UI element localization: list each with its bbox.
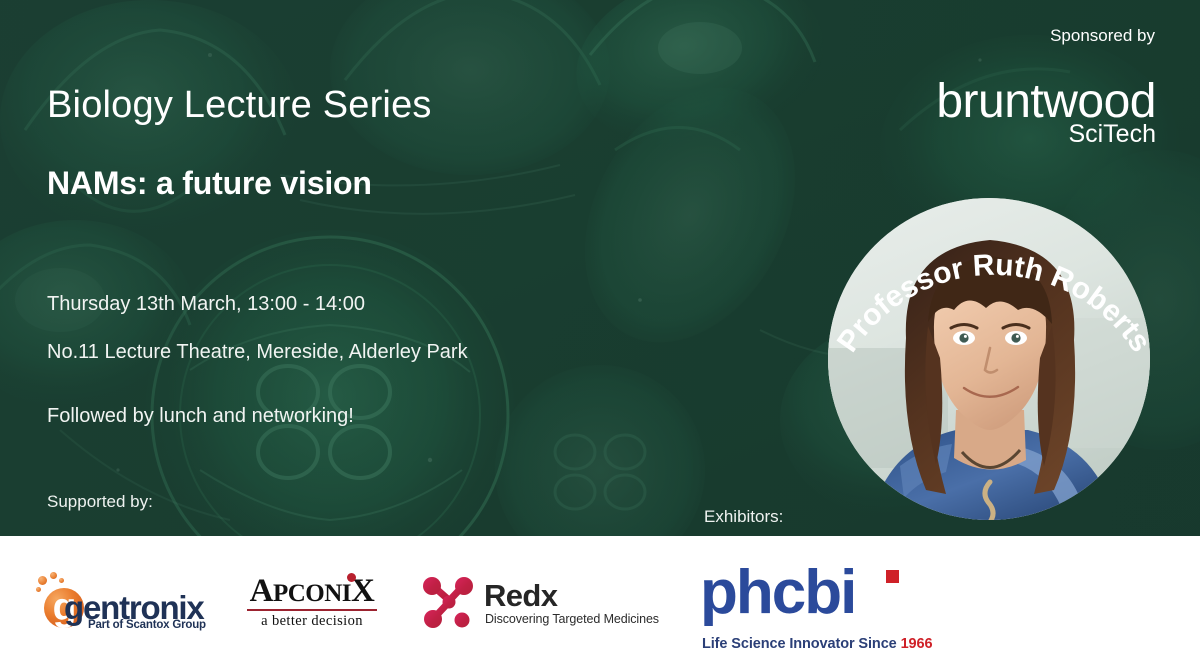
supporter-logo-redx[interactable]: Redx Discovering Targeted Medicines <box>421 536 636 672</box>
bubble-icon <box>50 572 57 579</box>
bubble-icon <box>59 578 64 583</box>
page-title: Biology Lecture Series <box>47 84 432 127</box>
phcbi-tagline-main: Life Science Innovator Since <box>702 636 901 652</box>
exhibitor-logo-phcbi[interactable]: phcbi Life Science Innovator Since 1966 <box>700 536 915 672</box>
speaker-block: Professor Ruth Roberts <box>828 198 1158 528</box>
bubble-icon <box>36 587 41 592</box>
apconix-name-rest: PCONI <box>273 580 351 607</box>
logo-bar: g gentronix Part of Scantox Group APCONI… <box>0 536 1200 672</box>
lecture-title: NAMs: a future vision <box>47 165 372 202</box>
sponsored-by-label: Sponsored by <box>1050 26 1155 46</box>
event-note: Followed by lunch and networking! <box>47 405 354 428</box>
event-poster: Biology Lecture Series NAMs: a future vi… <box>0 0 1200 672</box>
phcbi-red-dot-icon <box>886 570 899 583</box>
gentronix-tagline: Part of Scantox Group <box>88 619 206 631</box>
hero-section: Biology Lecture Series NAMs: a future vi… <box>0 0 1200 536</box>
speaker-portrait-photo <box>828 198 1150 520</box>
apconix-red-dot-icon <box>347 573 356 582</box>
apconix-wordmark: APCONIX <box>233 574 391 611</box>
supporter-logo-gentronix[interactable]: g gentronix Part of Scantox Group <box>34 536 210 672</box>
redx-tagline: Discovering Targeted Medicines <box>485 612 659 626</box>
phcbi-tagline-year: 1966 <box>901 636 933 652</box>
phcbi-wordmark: phcbi <box>700 558 855 628</box>
redx-wordmark: Redx <box>484 578 557 614</box>
sponsor-logo-subtitle: SciTech <box>1068 120 1156 149</box>
event-datetime: Thursday 13th March, 13:00 - 14:00 <box>47 293 365 316</box>
bubble-icon <box>38 576 47 585</box>
supporter-logo-apconix[interactable]: APCONIX a better decision <box>233 536 391 672</box>
exhibitors-label: Exhibitors: <box>704 507 783 527</box>
phcbi-tagline: Life Science Innovator Since 1966 <box>702 636 932 652</box>
apconix-name-lead: A <box>250 573 273 609</box>
supported-by-label: Supported by: <box>47 492 153 512</box>
redx-molecule-icon <box>421 576 477 632</box>
event-venue: No.11 Lecture Theatre, Mereside, Alderle… <box>47 341 468 364</box>
apconix-underline <box>247 609 377 611</box>
apconix-tagline: a better decision <box>233 613 391 630</box>
